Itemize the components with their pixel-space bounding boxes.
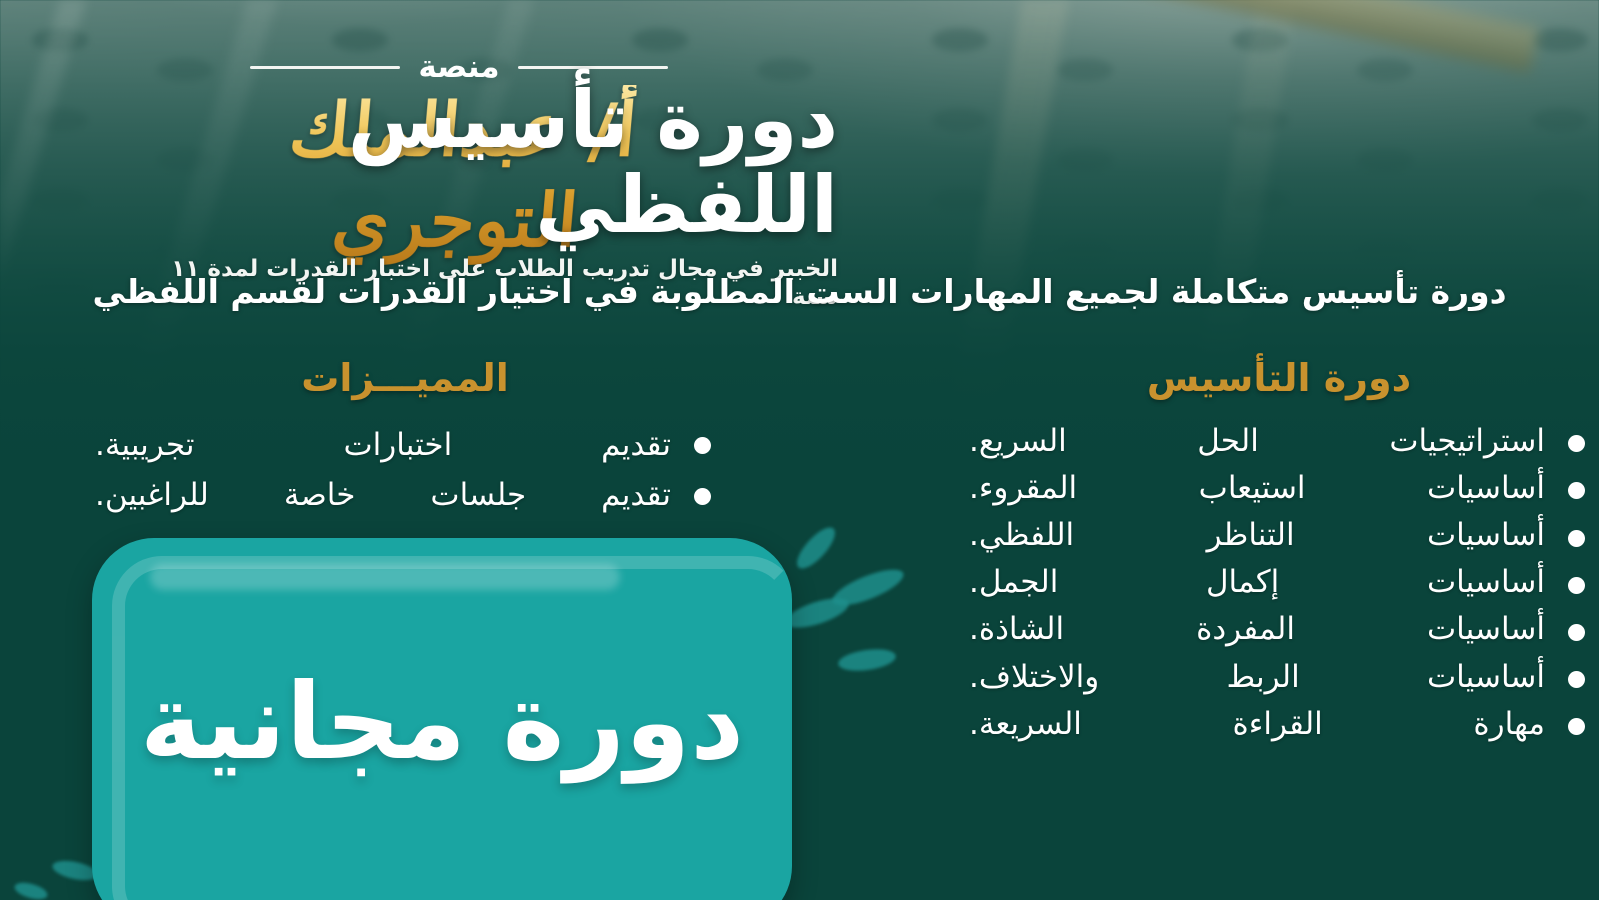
features-list: تقديم اختبارات تجريبية. تقديم جلسات خاصة…: [95, 420, 715, 520]
features-column: المميـــزات تقديم اختبارات تجريبية. تقدي…: [95, 356, 715, 520]
list-item: أساسيات إكمال الجمل.: [969, 559, 1589, 606]
course-promo-poster: منصة أ/ عبدالملك التوجري دورة تأسيس اللف…: [0, 0, 1599, 900]
splash-ellipse-icon: [782, 592, 852, 633]
horizontal-rule-icon-left: [250, 66, 400, 69]
list-item: تقديم اختبارات تجريبية.: [95, 420, 715, 470]
list-item: تقديم جلسات خاصة للراغبين.: [95, 470, 715, 520]
course-contents-heading: دورة التأسيس: [969, 356, 1589, 400]
splash-ellipse-icon: [837, 646, 897, 674]
splash-ellipse-icon: [13, 880, 50, 900]
horizontal-rule-icon-right: [518, 66, 668, 69]
list-item: استراتيجيات الحل السريع.: [969, 418, 1589, 465]
free-course-badge: دورة مجانية: [92, 538, 792, 900]
list-item: أساسيات التناظر اللفظي.: [969, 512, 1589, 559]
list-item: أساسيات الربط والاختلاف.: [969, 654, 1589, 701]
list-item: مهارة القراءة السريعة.: [969, 701, 1589, 748]
list-item: أساسيات استيعاب المقروء.: [969, 465, 1589, 512]
course-contents-column: دورة التأسيس استراتيجيات الحل السريع. أس…: [969, 356, 1589, 748]
course-contents-list: استراتيجيات الحل السريع. أساسيات استيعاب…: [969, 418, 1589, 748]
tagline: دورة تأسيس متكاملة لجميع المهارات الست ا…: [0, 272, 1599, 311]
features-heading: المميـــزات: [95, 356, 715, 400]
splash-ellipse-icon: [791, 522, 841, 574]
list-item: أساسيات المفردة الشاذة.: [969, 606, 1589, 653]
page-title: دورة تأسيس اللفظي: [118, 78, 838, 249]
free-course-label: دورة مجانية: [92, 538, 792, 900]
poster-content: منصة أ/ عبدالملك التوجري دورة تأسيس اللف…: [0, 0, 1599, 900]
